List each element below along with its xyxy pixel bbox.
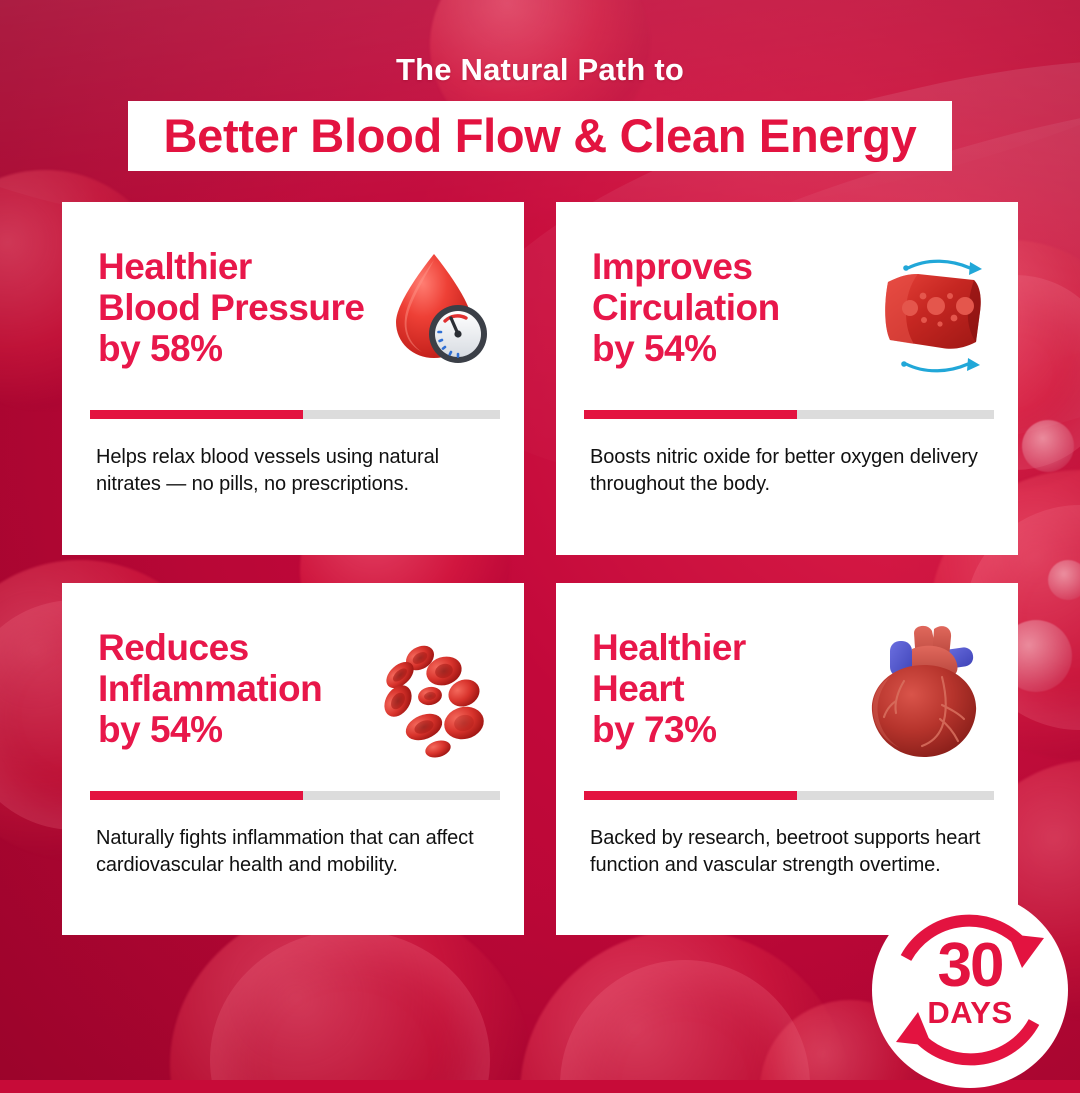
card-heading: Improves Circulation by 54%: [592, 246, 892, 369]
card-percent-label: by 58%: [98, 328, 398, 369]
progress-bar-fill: [90, 791, 303, 800]
blood-drop-pressure-gauge-icon: [372, 242, 502, 372]
anatomical-heart-icon: [854, 615, 994, 765]
kicker-text: The Natural Path to: [0, 52, 1080, 88]
badge-unit: DAYS: [872, 995, 1068, 1031]
blood-vessel-flow-icon: [866, 246, 996, 376]
card-heading: Healthier Blood Pressure by 58%: [98, 246, 398, 369]
benefit-card-inflammation: Reduces Inflammation by 54%: [62, 583, 524, 935]
progress-bar-track: [90, 410, 500, 419]
header: The Natural Path to Better Blood Flow & …: [0, 0, 1080, 88]
card-heading-line1: Healthier: [98, 246, 252, 287]
card-header-area: Healthier Heart by 73%: [556, 583, 1018, 791]
card-percent-label: by 73%: [592, 709, 892, 750]
card-description: Backed by research, beetroot supports he…: [590, 825, 990, 878]
red-blood-cells-icon: [376, 631, 506, 761]
card-description: Boosts nitric oxide for better oxygen de…: [590, 444, 990, 497]
card-heading: Healthier Heart by 73%: [592, 627, 892, 750]
progress-bar-track: [584, 791, 994, 800]
card-description: Naturally fights inflammation that can a…: [96, 825, 496, 878]
progress-bar-track: [584, 410, 994, 419]
card-heading-line1: Improves: [592, 246, 753, 287]
progress-bar-track: [90, 791, 500, 800]
card-heading-line1: Healthier: [592, 627, 746, 668]
card-header-area: Improves Circulation by 54%: [556, 202, 1018, 410]
page-title: Better Blood Flow & Clean Energy: [164, 108, 917, 163]
card-heading-line1: Reduces: [98, 627, 249, 668]
thirty-days-badge: 30 DAYS: [872, 892, 1068, 1088]
card-percent-label: by 54%: [592, 328, 892, 369]
progress-bar-fill: [90, 410, 303, 419]
card-percent-label: by 54%: [98, 709, 398, 750]
card-heading-line2: Inflammation: [98, 668, 322, 709]
card-heading: Reduces Inflammation by 54%: [98, 627, 398, 750]
benefit-card-heart: Healthier Heart by 73%: [556, 583, 1018, 935]
card-description: Helps relax blood vessels using natural …: [96, 444, 496, 497]
badge-number: 30: [872, 930, 1068, 1001]
card-heading-line2: Blood Pressure: [98, 287, 364, 328]
card-heading-line2: Circulation: [592, 287, 780, 328]
benefit-card-blood-pressure: Healthier Blood Pressure by 58%: [62, 202, 524, 555]
card-heading-line2: Heart: [592, 668, 684, 709]
card-header-area: Healthier Blood Pressure by 58%: [62, 202, 524, 410]
card-header-area: Reduces Inflammation by 54%: [62, 583, 524, 791]
progress-bar-fill: [584, 410, 797, 419]
benefit-card-circulation: Improves Circulation by 54%: [556, 202, 1018, 555]
progress-bar-fill: [584, 791, 797, 800]
title-banner: Better Blood Flow & Clean Energy: [128, 101, 952, 171]
